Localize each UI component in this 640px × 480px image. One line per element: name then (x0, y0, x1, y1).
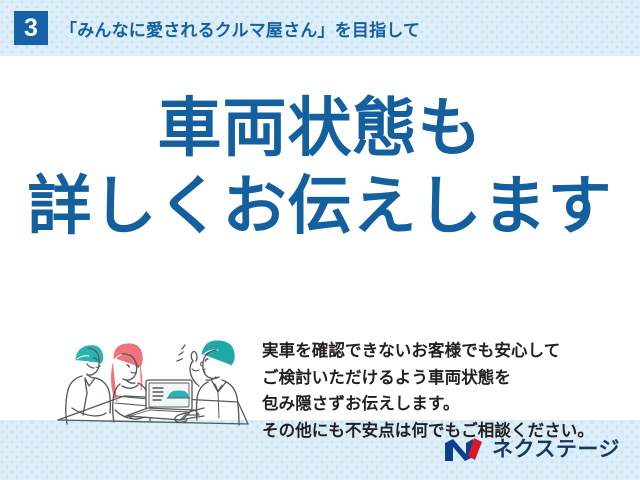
body-copy-line-2: ご検討いただけるよう車両状態を (262, 365, 632, 392)
header-title: 「みんなに愛されるクルマ屋さん」を目指して (60, 16, 420, 41)
nextage-n-mark-icon (444, 436, 484, 463)
body-copy: 実車を確認できないお客様でも安心して ご検討いただけるよう車両状態を 包み隠さず… (262, 338, 632, 444)
brand-wordmark: ネクステージ (492, 439, 620, 460)
header-bar: 3 「みんなに愛されるクルマ屋さん」を目指して (0, 0, 640, 56)
headline-line-1: 車両状態も (0, 96, 640, 160)
lower-area: 実車を確認できないお客様でも安心して ご検討いただけるよう車両状態を 包み隠さず… (0, 274, 640, 420)
body-copy-line-1: 実車を確認できないお客様でも安心して (262, 338, 632, 365)
promo-banner: 3 「みんなに愛されるクルマ屋さん」を目指して 車両状態も 詳しくお伝えします (0, 0, 640, 480)
body-copy-line-3: 包み隠さずお伝えします。 (262, 391, 632, 418)
headline: 車両状態も 詳しくお伝えします (0, 96, 640, 238)
headline-line-2: 詳しくお伝えします (0, 174, 640, 238)
section-number-badge: 3 (14, 11, 48, 45)
dealership-consultation-illustration (52, 324, 252, 434)
brand-logo: ネクステージ (444, 434, 620, 464)
content-card: 車両状態も 詳しくお伝えします (0, 56, 640, 420)
